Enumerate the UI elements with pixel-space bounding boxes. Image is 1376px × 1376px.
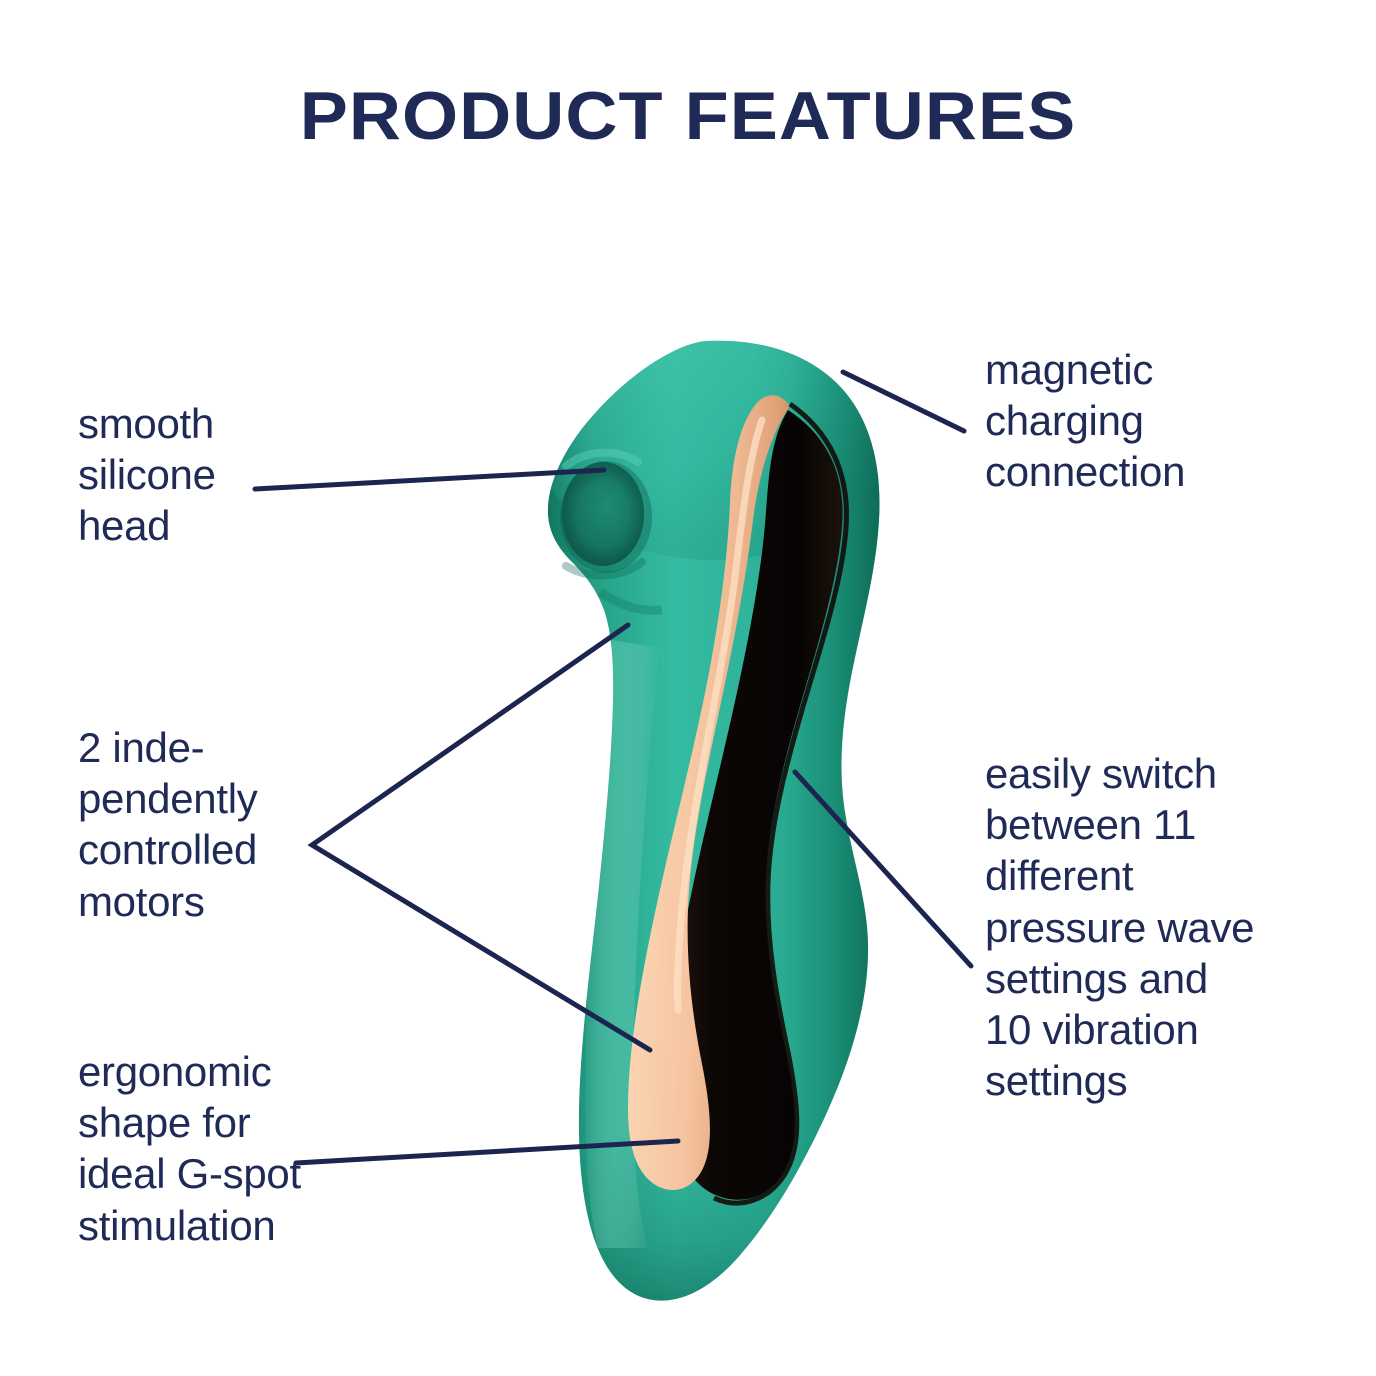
infographic-canvas: PRODUCT FEATURES [0, 0, 1376, 1376]
suction-head-opening-rim [562, 462, 644, 566]
product-body-group [532, 300, 900, 1320]
callout-label-independent-motors: 2 inde- pendently controlled motors [78, 722, 408, 927]
callout-label-pressure-wave-settings: easily switch between 11 different press… [985, 748, 1335, 1107]
callout-label-ergonomic-shape: ergonomic shape for ideal G-spot stimula… [78, 1046, 418, 1251]
callout-label-magnetic-charging: magnetic charging connection [985, 344, 1315, 498]
callout-label-smooth-silicone-head: smooth silicone head [78, 398, 378, 552]
